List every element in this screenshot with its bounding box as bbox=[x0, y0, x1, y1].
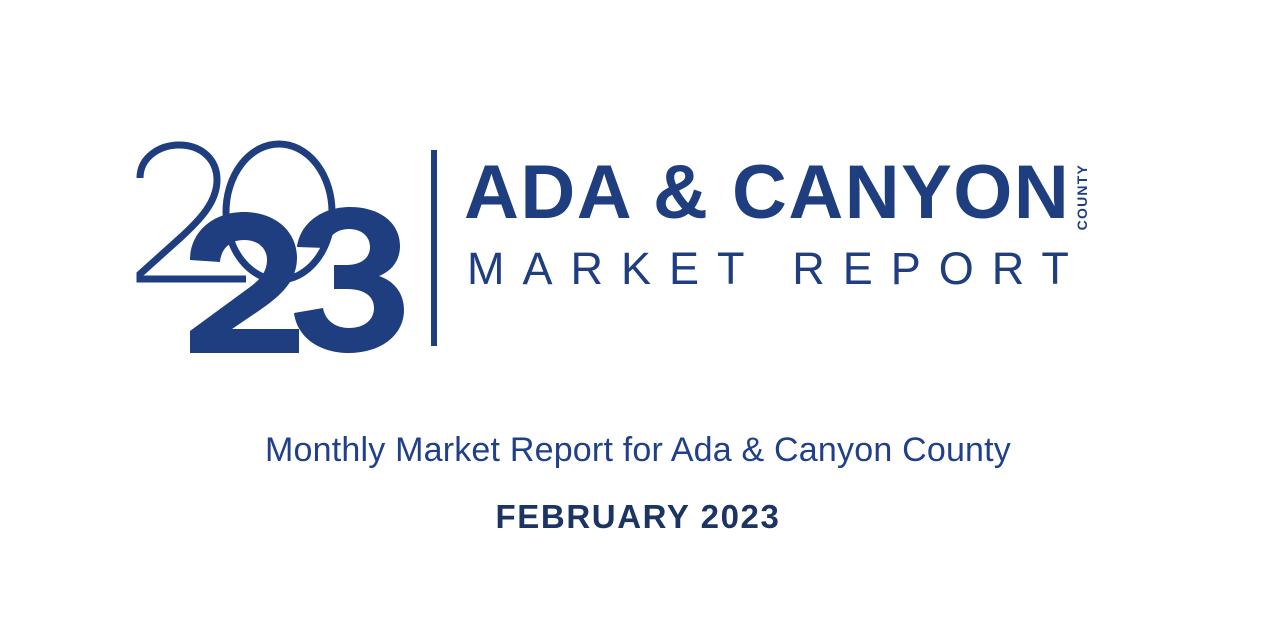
caption-block: Monthly Market Report for Ada & Canyon C… bbox=[0, 430, 1276, 536]
bold-three-glyph bbox=[294, 207, 404, 353]
report-date: FEBRUARY 2023 bbox=[0, 497, 1276, 537]
county-tag: COUNTY bbox=[1075, 164, 1089, 230]
brand-name: ADA & CANYON bbox=[464, 158, 1070, 228]
report-subtitle: Monthly Market Report for Ada & Canyon C… bbox=[0, 430, 1276, 471]
wordmark-top-row: ADA & CANYON COUNTY bbox=[464, 158, 1089, 230]
wordmark: ADA & CANYON COUNTY MARKET REPORT bbox=[464, 140, 1144, 355]
logo-divider bbox=[431, 150, 437, 346]
brand-subtitle: MARKET REPORT bbox=[467, 246, 1087, 291]
year-2023-mark bbox=[134, 140, 409, 355]
logo-lockup: ADA & CANYON COUNTY MARKET REPORT bbox=[134, 140, 1144, 355]
